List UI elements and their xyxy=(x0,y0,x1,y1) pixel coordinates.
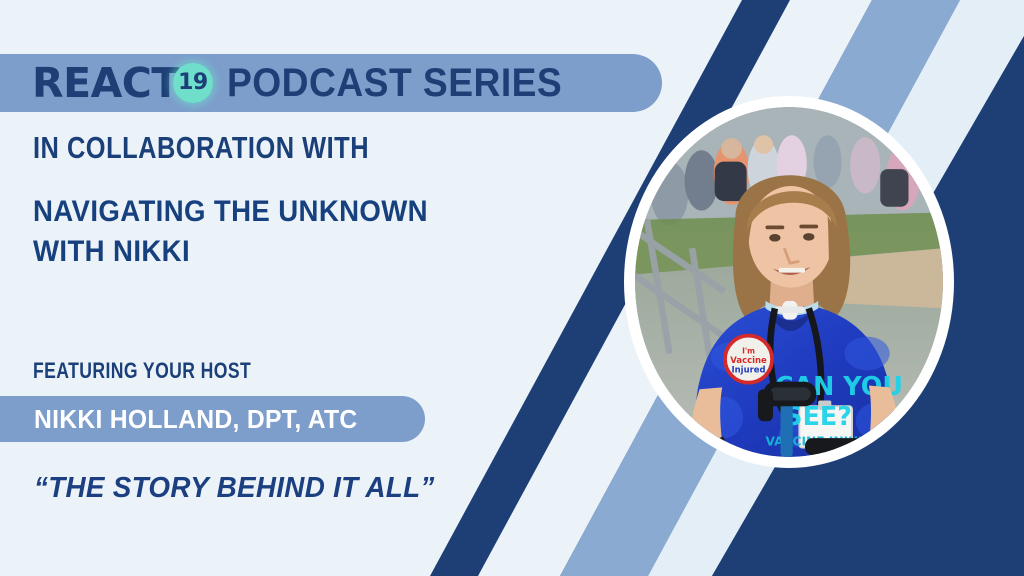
show-title-line-1: NAVIGATING THE UNKNOWN xyxy=(33,192,548,232)
host-photo-illustration: I'm Vaccine Injured CAN YOU SEE? VACCINE… xyxy=(635,107,943,457)
series-label: PODCAST SERIES xyxy=(227,63,562,103)
host-name-pill: NIKKI HOLLAND, DPT, ATC xyxy=(0,396,425,442)
brand-19-badge-icon: 19 xyxy=(173,63,213,103)
svg-text:Injured: Injured xyxy=(732,364,766,374)
brand-name: REACT xyxy=(32,63,179,104)
host-name: NIKKI HOLLAND, DPT, ATC xyxy=(34,406,358,432)
series-banner: REACT 19 PODCAST SERIES xyxy=(0,54,662,112)
host-photo: I'm Vaccine Injured CAN YOU SEE? VACCINE… xyxy=(635,107,943,457)
episode-quote: “THE STORY BEHIND IT ALL” xyxy=(34,474,435,503)
host-photo-frame: I'm Vaccine Injured CAN YOU SEE? VACCINE… xyxy=(624,96,954,468)
collaboration-label: IN COLLABORATION WITH xyxy=(33,132,369,163)
show-title-line-2: WITH NIKKI xyxy=(33,232,548,272)
photo-bracelet xyxy=(692,438,724,443)
featuring-label: FEATURING YOUR HOST xyxy=(33,360,251,382)
brand-badge-number: 19 xyxy=(178,72,208,94)
photo-vaccine-injured-button: I'm Vaccine Injured xyxy=(725,336,772,383)
show-title: NAVIGATING THE UNKNOWN WITH NIKKI xyxy=(33,192,548,271)
banner-content: REACT 19 PODCAST SERIES xyxy=(32,63,587,104)
podcast-promo-card: REACT 19 PODCAST SERIES IN COLLABORATION… xyxy=(0,0,1024,576)
